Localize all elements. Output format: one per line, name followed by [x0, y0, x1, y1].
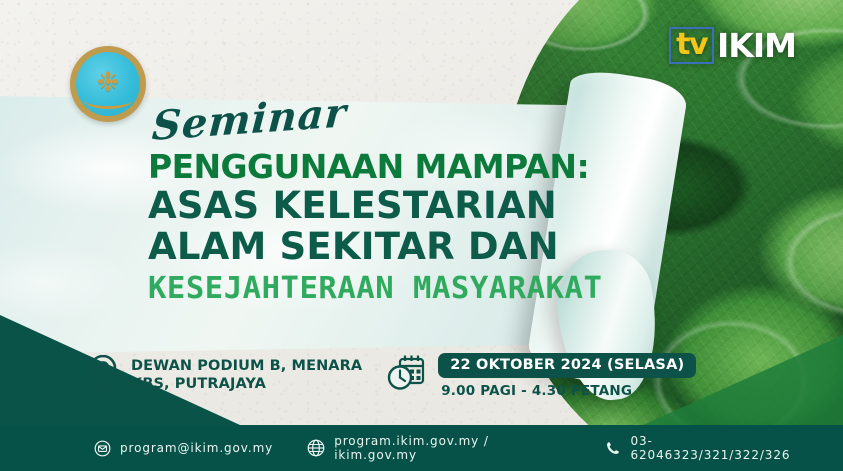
footer-email-item[interactable]: program@ikim.gov.my: [94, 440, 273, 457]
email-icon: [94, 440, 111, 457]
venue-line-2: KBS, PUTRAJAYA: [131, 375, 362, 393]
ikim-logo-text: IKIM: [717, 29, 796, 62]
tvikim-logo: tv IKIM: [669, 27, 796, 64]
ikim-emblem-arc: [84, 92, 132, 109]
venue-line-1: DEWAN PODIUM B, MENARA: [131, 357, 362, 375]
event-time: 9.00 PAGI - 4.30 PETANG: [441, 383, 696, 399]
footer-phone-item[interactable]: 03-62046323/321/322/326: [605, 434, 809, 462]
venue-text: DEWAN PODIUM B, MENARA KBS, PUTRAJAYA: [131, 357, 362, 393]
title-line-4: KESEJAHTERAAN MASYARAKAT: [148, 271, 627, 307]
schedule-info: 22 OKTOBER 2024 (SELASA) 9.00 PAGI - 4.3…: [386, 352, 696, 399]
venue-info: DEWAN PODIUM B, MENARA KBS, PUTRAJAYA: [86, 352, 362, 394]
ikim-emblem-logo: ❉: [70, 46, 146, 122]
tv-logo-box: tv: [669, 27, 714, 64]
event-info-row: DEWAN PODIUM B, MENARA KBS, PUTRAJAYA: [86, 352, 696, 399]
calendar-clock-icon: [386, 352, 428, 394]
event-date-badge: 22 OKTOBER 2024 (SELASA): [438, 353, 696, 378]
title-line-1: PENGGUNAAN MAMPAN:: [148, 150, 618, 185]
contact-footer-bar: program@ikim.gov.my program.ikim.gov.my …: [0, 425, 843, 471]
location-pin-icon: [86, 352, 120, 394]
tv-logo-text: tv: [676, 27, 707, 62]
seminar-poster: tv IKIM ❉ Seminar PENGGUNAAN MAMPAN: ASA…: [0, 0, 843, 471]
footer-website-item[interactable]: program.ikim.gov.my / ikim.gov.my: [307, 434, 571, 462]
poster-title-block: PENGGUNAAN MAMPAN: ASAS KELESTARIAN ALAM…: [148, 150, 618, 307]
schedule-text: 22 OKTOBER 2024 (SELASA) 9.00 PAGI - 4.3…: [438, 353, 696, 399]
title-line-3: ALAM SEKITAR DAN: [148, 226, 618, 267]
phone-icon: [605, 440, 621, 456]
footer-phone-text: 03-62046323/321/322/326: [630, 434, 809, 462]
footer-email-text: program@ikim.gov.my: [120, 441, 273, 455]
globe-icon: [307, 439, 325, 457]
ikim-emblem-inner: ❉: [76, 52, 140, 116]
footer-website-text: program.ikim.gov.my / ikim.gov.my: [334, 434, 571, 462]
title-line-2: ASAS KELESTARIAN: [148, 185, 618, 226]
